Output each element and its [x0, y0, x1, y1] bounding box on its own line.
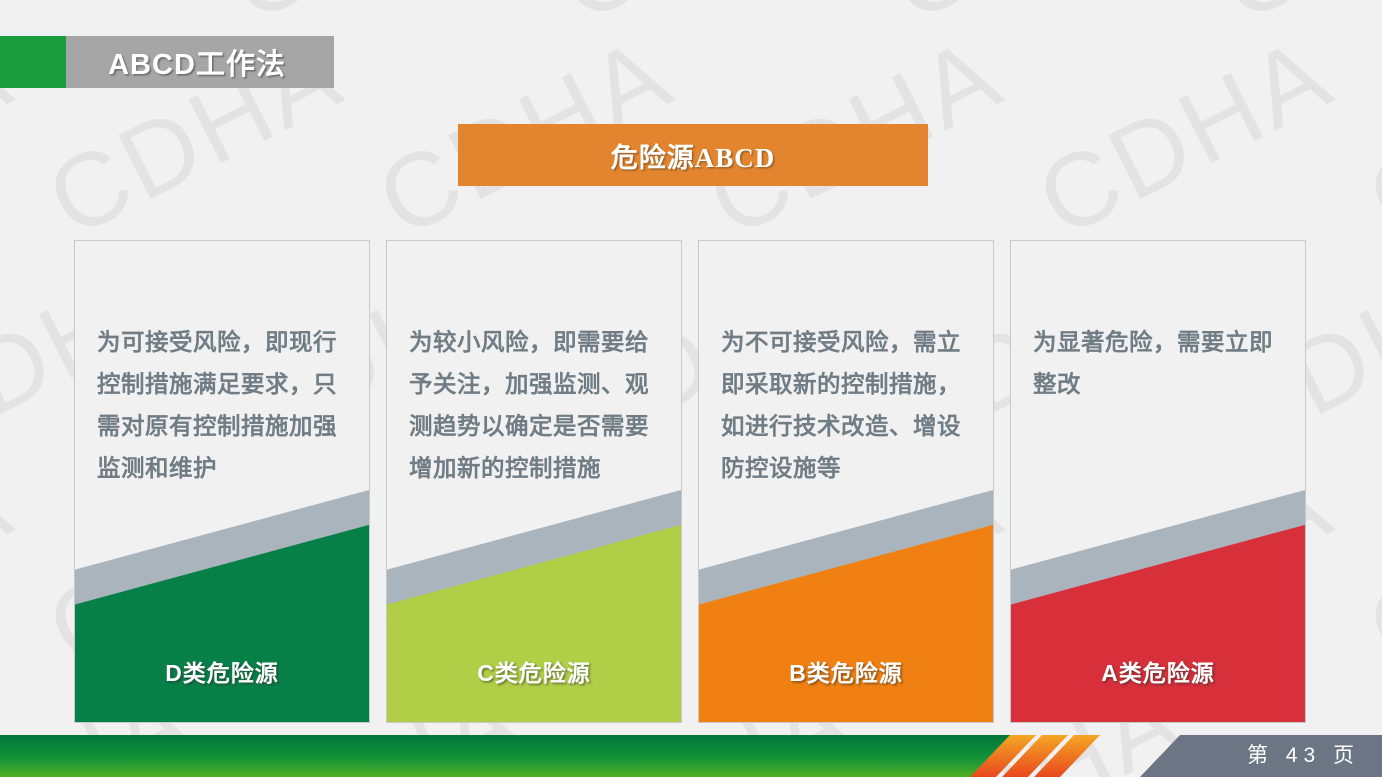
risk-card-description: 为显著危险，需要立即整改: [1011, 241, 1305, 405]
header-accent-block: [0, 36, 66, 88]
section-banner-title: 危险源ABCD: [611, 136, 776, 175]
slide-header: ABCD工作法: [0, 36, 334, 88]
page-title: ABCD工作法: [108, 41, 292, 83]
risk-card-label: D类危险源: [75, 654, 369, 688]
page-number: 第 43 页: [1247, 735, 1360, 777]
risk-card[interactable]: 为显著危险，需要立即整改A类危险源: [1010, 240, 1306, 723]
watermark-text: CDHA: [540, 0, 871, 46]
risk-card-description: 为较小风险，即需要给予关注，加强监测、观测趋势以确定是否需要增加新的控制措施: [387, 241, 681, 489]
risk-card-description: 为可接受风险，即现行控制措施满足要求，只需对原有控制措施加强监测和维护: [75, 241, 369, 489]
risk-card-description: 为不可接受风险，需立即采取新的控制措施，如进行技术改造、增设防控设施等: [699, 241, 993, 489]
risk-card-label: C类危险源: [387, 654, 681, 688]
section-banner: 危险源ABCD: [458, 124, 928, 186]
watermark-text: CDHA: [870, 0, 1201, 46]
risk-card-group: 为可接受风险，即现行控制措施满足要求，只需对原有控制措施加强监测和维护D类危险源…: [74, 240, 1308, 723]
watermark-text: CDHA: [1350, 444, 1382, 691]
risk-card-label: A类危险源: [1011, 654, 1305, 688]
footer-graphic: [0, 735, 1382, 777]
slide-footer: 第 43 页: [0, 735, 1382, 777]
watermark-text: CDHA: [1020, 14, 1351, 261]
risk-card[interactable]: 为不可接受风险，需立即采取新的控制措施，如进行技术改造、增设防控设施等B类危险源: [698, 240, 994, 723]
slide-canvas: CDHACDHACDHACDHACDHACDHACDHACDHACDHACDHA…: [0, 0, 1382, 777]
risk-card-label: B类危险源: [699, 654, 993, 688]
watermark-text: CDHA: [1200, 0, 1382, 46]
watermark-text: CDHA: [1350, 14, 1382, 261]
risk-card[interactable]: 为较小风险，即需要给予关注，加强监测、观测趋势以确定是否需要增加新的控制措施C类…: [386, 240, 682, 723]
header-title-block: ABCD工作法: [66, 36, 334, 88]
watermark-text: CDHA: [0, 444, 31, 691]
risk-card[interactable]: 为可接受风险，即现行控制措施满足要求，只需对原有控制措施加强监测和维护D类危险源: [74, 240, 370, 723]
